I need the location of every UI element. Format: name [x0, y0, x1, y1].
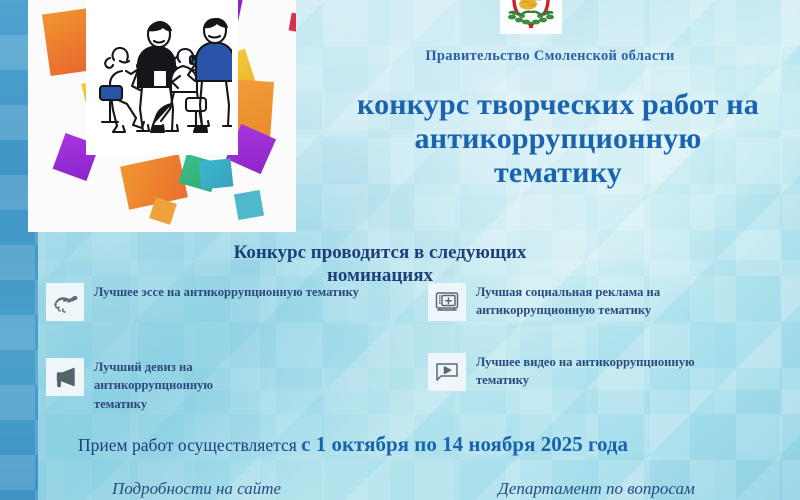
nomination-label: Лучшее эссе на антикоррупционную тематик… — [94, 283, 359, 301]
footer-website-note: Подробности на сайте — [112, 479, 281, 499]
confetti-square — [289, 13, 296, 34]
confetti-square — [149, 197, 177, 225]
tv-monitor-icon — [428, 283, 466, 321]
nomination-label: Лучшая социальная реклама на антикоррупц… — [476, 283, 766, 320]
illustration-card — [28, 0, 296, 232]
nomination-item-social-ad: Лучшая социальная реклама на антикоррупц… — [428, 283, 766, 321]
megaphone-icon — [46, 358, 84, 396]
video-bubble-icon — [428, 353, 466, 391]
nomination-label: Лучшее видео на антикоррупционную темати… — [476, 353, 721, 390]
confetti-square — [234, 190, 264, 220]
poster-root: Правительство Смоленской области конкурс… — [0, 0, 800, 500]
submission-period-dates: с 1 октября по 14 ноября 2025 года — [301, 432, 628, 456]
nominations-header: Конкурс проводится в следующих номинация… — [190, 241, 570, 287]
government-line: Правительство Смоленской области — [330, 48, 770, 65]
group-of-people-illustration — [86, 0, 238, 155]
nomination-item-motto: Лучший девиз на антикоррупционную темати… — [46, 358, 244, 413]
nomination-item-video: Лучшее видео на антикоррупционную темати… — [428, 353, 721, 391]
nomination-label: Лучший девиз на антикоррупционную темати… — [94, 358, 244, 413]
page-title: конкурс творческих работ на антикоррупци… — [348, 88, 768, 191]
footer-department-note: Департамент по вопросам — [498, 479, 695, 499]
confetti-square — [199, 158, 234, 189]
nomination-item-essay: Лучшее эссе на антикоррупционную тематик… — [46, 283, 359, 321]
hand-with-pen-icon — [46, 283, 84, 321]
submission-period-prefix: Прием работ осуществляется — [78, 435, 301, 455]
smolensk-coat-of-arms — [500, 0, 562, 34]
submission-period: Прием работ осуществляется с 1 октября п… — [78, 430, 778, 459]
